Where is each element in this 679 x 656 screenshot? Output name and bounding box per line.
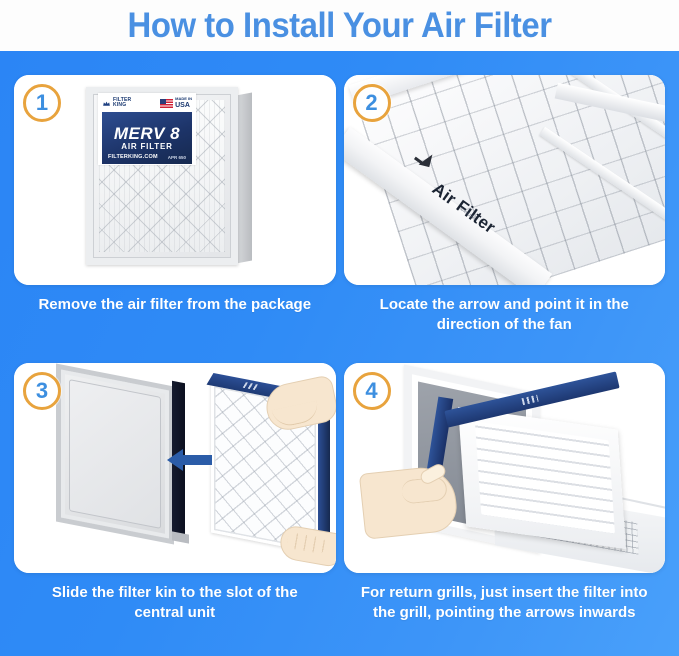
infographic-page: How to Install Your Air Filter	[0, 0, 679, 656]
product-label: FILTER KING MADE IN USA	[98, 93, 196, 165]
header-band: How to Install Your Air Filter	[0, 0, 679, 51]
step-caption-3: Slide the filter kin to the slot of the …	[14, 573, 336, 649]
central-unit-face	[69, 379, 161, 529]
us-flag-icon	[160, 99, 173, 108]
filter-slot-lip	[172, 531, 189, 543]
origin-small: MADE IN	[175, 96, 192, 101]
product-subtitle: AIR FILTER	[108, 142, 186, 152]
step-card-2: Air Filter AIRFLOW 2	[344, 75, 666, 285]
step-badge-1: 1	[23, 84, 61, 122]
origin-text: MADE IN USA	[175, 97, 192, 109]
step-2-photo: Air Filter AIRFLOW	[344, 75, 666, 285]
steps-grid: FILTER KING MADE IN USA	[0, 51, 679, 656]
step-panel-1: FILTER KING MADE IN USA	[14, 75, 336, 361]
brand-text-block: FILTER KING	[113, 98, 131, 108]
step-panel-3: 3 Slide the filter kin to the slot of th…	[14, 363, 336, 649]
step-badge-4: 4	[353, 372, 391, 410]
insert-direction-arrow-icon	[182, 455, 212, 465]
central-unit-body	[56, 363, 174, 544]
label-brand-row: FILTER KING MADE IN USA	[102, 96, 192, 110]
website-text: FILTERKING.COM	[108, 154, 158, 160]
label-footer-row: FILTERKING.COM APR 650	[108, 154, 186, 160]
merv-rating: MERV 8	[108, 125, 186, 142]
step-caption-2: Locate the arrow and point it in the dir…	[344, 285, 666, 361]
crown-icon	[102, 99, 111, 108]
air-filter-product-photo: FILTER KING MADE IN USA	[86, 87, 238, 265]
label-navy-area: MERV 8 AIR FILTER FILTERKING.COM APR 650	[102, 112, 192, 164]
model-code: APR 650	[168, 155, 186, 160]
made-in-usa-badge: MADE IN USA	[160, 97, 192, 109]
step-panel-2: Air Filter AIRFLOW 2 Locate the arrow an…	[344, 75, 666, 361]
step-caption-1: Remove the air filter from the package	[14, 285, 336, 361]
step-badge-3: 3	[23, 372, 61, 410]
page-title: How to Install Your Air Filter	[128, 8, 552, 44]
grille-louvers	[474, 421, 614, 533]
step-card-4: 4	[344, 363, 666, 573]
step-badge-2: 2	[353, 84, 391, 122]
step-3-illustration	[14, 363, 336, 573]
brand-line-2: KING	[113, 103, 131, 108]
step-4-illustration	[344, 363, 666, 573]
step-panel-4: 4 For return grills, just insert the fil…	[344, 363, 666, 649]
grille-door	[458, 406, 626, 548]
step-1-photo: FILTER KING MADE IN USA	[14, 75, 336, 285]
origin-large: USA	[175, 102, 192, 109]
step-card-3: 3	[14, 363, 336, 573]
filter-king-logo: FILTER KING	[102, 98, 131, 108]
step-caption-4: For return grills, just insert the filte…	[344, 573, 666, 649]
step-card-1: FILTER KING MADE IN USA	[14, 75, 336, 285]
filter-side-depth	[236, 92, 252, 263]
